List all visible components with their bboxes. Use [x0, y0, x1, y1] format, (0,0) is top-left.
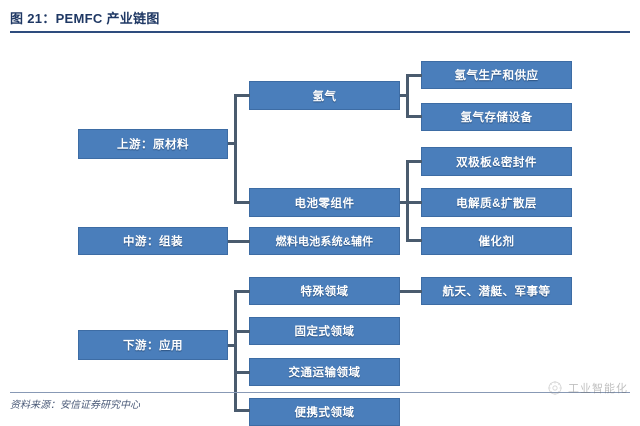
node-hydrogen[interactable]: 氢气 [249, 81, 400, 110]
footer-divider [10, 392, 630, 393]
connector-special-field-to-aerospace [400, 290, 422, 293]
node-fuel-cell-system[interactable]: 燃料电池系统&辅件 [249, 227, 400, 255]
node-label: 双极板&密封件 [456, 154, 537, 170]
node-special-field[interactable]: 特殊领域 [249, 277, 400, 305]
node-transport-field[interactable]: 交通运输领域 [249, 358, 400, 386]
page-title: 图 21：PEMFC 产业链图 [10, 10, 630, 28]
title-divider [10, 31, 630, 33]
node-label: 燃料电池系统&辅件 [276, 233, 374, 249]
node-catalyst[interactable]: 催化剂 [421, 227, 572, 255]
node-hydrogen-storage[interactable]: 氢气存储设备 [421, 103, 572, 131]
node-label: 航天、潜艇、军事等 [443, 283, 551, 299]
node-label: 固定式领域 [295, 323, 355, 339]
connector-hydrogen-to-production [406, 74, 422, 77]
node-label: 催化剂 [479, 233, 515, 249]
watermark-label: 工业智能化 [568, 380, 628, 396]
node-label: 氢气 [313, 88, 337, 104]
connector-upstream-to-hydrogen [234, 94, 250, 97]
figure-title-bar: 图 21：PEMFC 产业链图 [10, 10, 630, 34]
node-label: 电解质&扩散层 [456, 195, 537, 211]
figure-root: 图 21：PEMFC 产业链图 上游：原材料 中游：组装 下游：应用 氢气 电池… [0, 0, 640, 418]
connector-hydrogen-to-storage [406, 115, 422, 118]
connector-midstream-to-fuel-cell-system [228, 240, 250, 243]
connector-cell-to-bipolar-plate [406, 160, 422, 163]
node-hydrogen-production[interactable]: 氢气生产和供应 [421, 61, 572, 89]
connector-upstream-to-cell-components [234, 201, 250, 204]
node-label: 电池零组件 [295, 195, 355, 211]
watermark: 工业智能化 [547, 380, 628, 396]
node-label: 特殊领域 [301, 283, 349, 299]
node-label: 上游：原材料 [117, 136, 189, 152]
source-note: 资料来源：安信证券研究中心 [10, 396, 140, 411]
node-tier-upstream[interactable]: 上游：原材料 [78, 129, 228, 159]
node-aerospace-submarine-military[interactable]: 航天、潜艇、军事等 [421, 277, 572, 305]
node-electrolyte-diffusion[interactable]: 电解质&扩散层 [421, 188, 572, 217]
node-label: 氢气存储设备 [461, 109, 533, 125]
connector-cell-to-catalyst [406, 239, 422, 242]
connector-cell-to-electrolyte [406, 201, 422, 204]
node-label: 中游：组装 [123, 233, 183, 249]
gear-circle-icon [547, 380, 563, 396]
node-cell-components[interactable]: 电池零组件 [249, 188, 400, 217]
node-bipolar-plate[interactable]: 双极板&密封件 [421, 147, 572, 176]
connector-downstream-to-transport [234, 371, 250, 374]
node-tier-midstream[interactable]: 中游：组装 [78, 227, 228, 255]
node-portable-field[interactable]: 便携式领域 [249, 398, 400, 426]
connector-downstream-to-stationary [234, 330, 250, 333]
node-label: 氢气生产和供应 [455, 67, 539, 83]
node-label: 下游：应用 [123, 337, 183, 353]
connector-downstream-to-special [234, 290, 250, 293]
diagram-canvas: 上游：原材料 中游：组装 下游：应用 氢气 电池零组件 燃料电池系统&辅件 特殊… [0, 34, 640, 384]
connector-upstream-spine [234, 95, 237, 204]
connector-downstream-spine [234, 290, 237, 412]
connector-downstream-to-portable [234, 409, 250, 412]
connector-hydrogen-spine [406, 74, 409, 118]
node-stationary-field[interactable]: 固定式领域 [249, 317, 400, 345]
node-tier-downstream[interactable]: 下游：应用 [78, 330, 228, 360]
node-label: 交通运输领域 [289, 364, 361, 380]
